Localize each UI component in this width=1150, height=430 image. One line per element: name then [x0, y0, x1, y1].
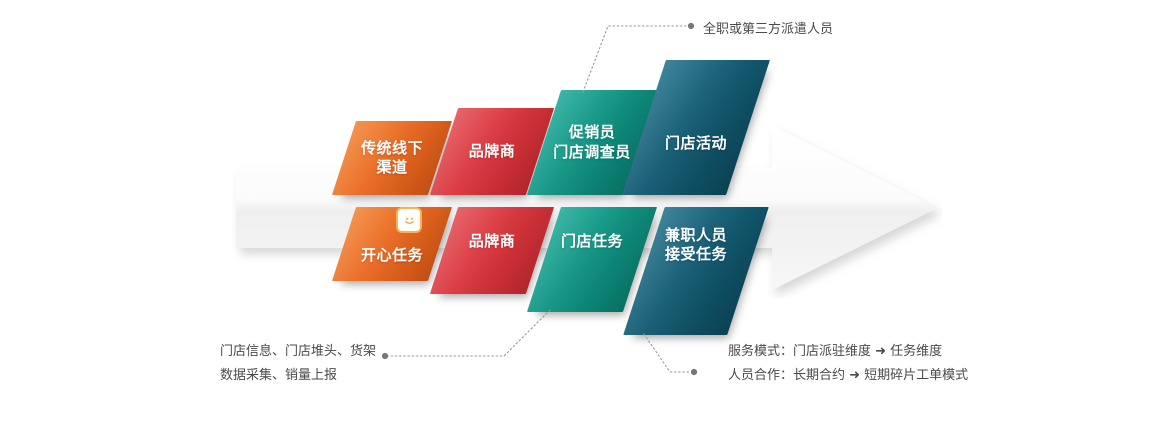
step-label: 品牌商: [469, 142, 516, 161]
step-brand-owner-bottom[interactable]: 品牌商: [444, 207, 540, 294]
step-label: 品牌商: [469, 232, 516, 251]
annotation-line: 数据采集、销量上报: [220, 364, 376, 388]
step-happy-task[interactable]: 开心任务: [344, 207, 440, 281]
annotation-line: 全职或第三方派遣人员: [703, 18, 833, 42]
annotation-service-mode: 服务模式：门店派驻维度 ➜ 任务维度 人员合作：长期合约 ➜ 短期碎片工单模式: [728, 340, 968, 388]
shape-fill: [332, 207, 452, 281]
annotation-staffing: 全职或第三方派遣人员: [703, 18, 833, 42]
leader-line-staffing: [575, 22, 700, 94]
step-traditional-channel[interactable]: 传统线下 渠道: [344, 121, 440, 195]
annotation-data-collection: 门店信息、门店堆头、货架 数据采集、销量上报: [220, 340, 376, 388]
step-label: 传统线下 渠道: [361, 139, 423, 177]
annotation-line: 服务模式：门店派驻维度 ➜ 任务维度: [728, 340, 968, 364]
step-label: 门店活动: [665, 134, 727, 153]
step-promoter-surveyor[interactable]: 促销员 门店调查员: [544, 90, 640, 195]
step-brand-owner-top[interactable]: 品牌商: [444, 108, 540, 195]
leader-line-data-collection: [378, 306, 558, 362]
step-label: 门店任务: [561, 232, 623, 251]
step-store-task[interactable]: 门店任务: [544, 207, 640, 312]
diagram-canvas: 传统线下 渠道 品牌商 促销员 门店调查员 门店活动: [0, 0, 1150, 430]
step-part-time-accept-task[interactable]: 兼职人员 接受任务: [644, 207, 748, 335]
leader-line-service-mode: [640, 330, 700, 378]
annotation-line: 门店信息、门店堆头、货架: [220, 340, 376, 364]
annotation-line: 人员合作：长期合约 ➜ 短期碎片工单模式: [728, 364, 968, 388]
smiley-icon: [398, 209, 420, 231]
step-label: 开心任务: [361, 246, 423, 265]
step-label: 兼职人员 接受任务: [665, 226, 727, 264]
step-label: 促销员 门店调查员: [553, 123, 631, 161]
